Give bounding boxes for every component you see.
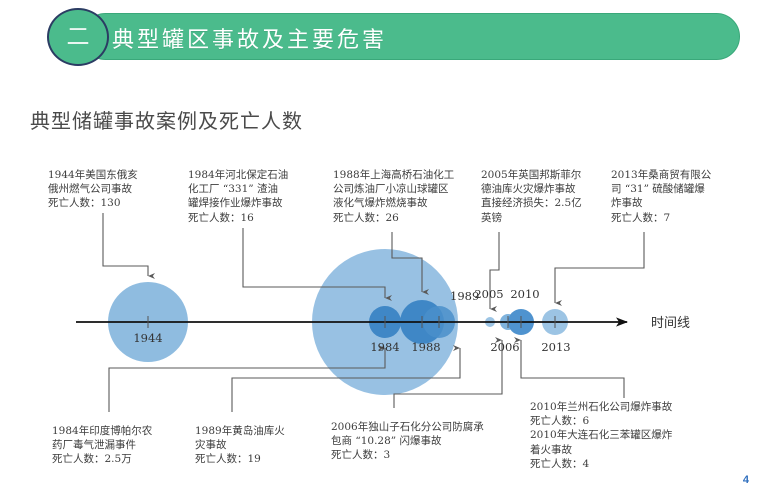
page-number: 4 [743,474,749,486]
connector-2013 [555,232,644,303]
year-label-1984: 1984 [370,340,399,354]
year-label-2013: 2013 [541,340,570,354]
axis-label: 时间线 [651,316,690,331]
note-2010-lanzhou-dalian: 2010年兰州石化公司爆炸事故 死亡人数：6 2010年大连石化三苯罐区爆炸 着… [530,400,740,471]
note-2005-buncefield: 2005年英国邦斯菲尔 德油库火灾爆炸事故 直接经济损失：2.5亿 英镑 [481,168,605,225]
year-label-2006: 2006 [490,340,519,354]
note-1984-bhopal: 1984年印度博帕尔农 药厂毒气泄漏事件 死亡人数：2.5万 [52,424,187,467]
connector-1944 [103,213,148,276]
year-label-1988: 1988 [411,340,440,354]
note-2013-sangshang: 2013年桑商贸有限公 司 “31” 硫酸储罐爆 炸事故 死亡人数：7 [611,168,741,225]
note-1989-huangdao: 1989年黄岛油库火 灾事故 死亡人数：19 [195,424,320,467]
note-1984-hebei: 1984年河北保定石油 化工厂 “331” 渣油 罐焊接作业爆炸事故 死亡人数：… [188,168,328,225]
year-label-2010: 2010 [510,287,539,301]
note-2006-dushanzi: 2006年独山子石化分公司防腐承 包商 “10.28” 闪爆事故 死亡人数：3 [331,420,526,463]
year-label-2005: 2005 [474,287,503,301]
year-label-1944: 1944 [133,331,162,345]
connector-2010-lanzhou-dalian [521,340,624,398]
note-1988-shanghai: 1988年上海高桥石油化工 公司炼油厂小凉山球罐区 液化气爆炸燃烧事故 死亡人数… [333,168,485,225]
slide-canvas: 典型罐区事故及主要危害 二 典型储罐事故案例及死亡人数 [0,0,767,494]
note-1944: 1944年美国东俄亥 俄州燃气公司事故 死亡人数：130 [48,168,178,211]
